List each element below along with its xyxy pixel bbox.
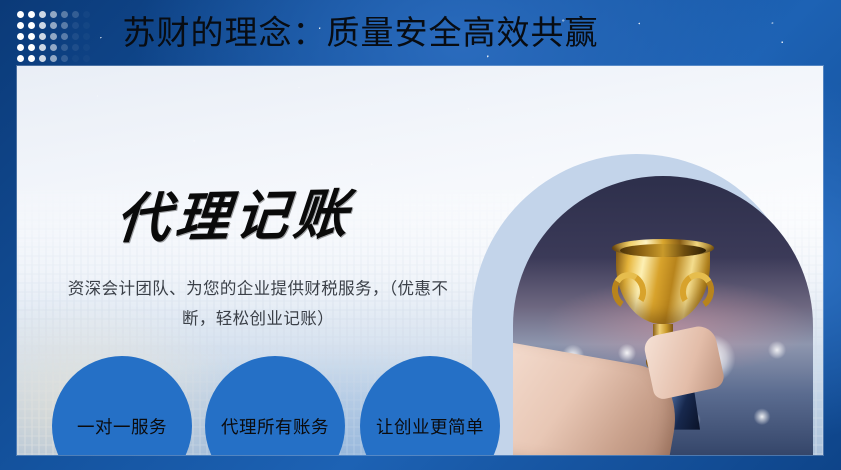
badge-label-2: 代理所有账务 <box>221 414 329 439</box>
badge-label-1: 一对一服务 <box>77 414 167 439</box>
subtitle-text: 资深会计团队、为您的企业提供财税服务，（优惠不断，轻松创业记账） <box>63 274 453 334</box>
hand-icon <box>642 323 726 400</box>
header-bar: 苏财的理念：质量安全高效共赢 <box>0 0 841 66</box>
trophy-photo <box>513 176 813 455</box>
content-panel: 代理记账 资深会计团队、为您的企业提供财税服务，（优惠不断，轻松创业记账） 一对… <box>17 66 823 455</box>
headline-brush-title: 代理记账 <box>113 170 356 254</box>
page-title: 苏财的理念：质量安全高效共赢 <box>0 6 841 60</box>
badge-label-3: 让创业更简单 <box>376 414 484 439</box>
stadium-lights-background <box>513 176 813 455</box>
slide-root: 苏财的理念：质量安全高效共赢 <box>0 0 841 470</box>
